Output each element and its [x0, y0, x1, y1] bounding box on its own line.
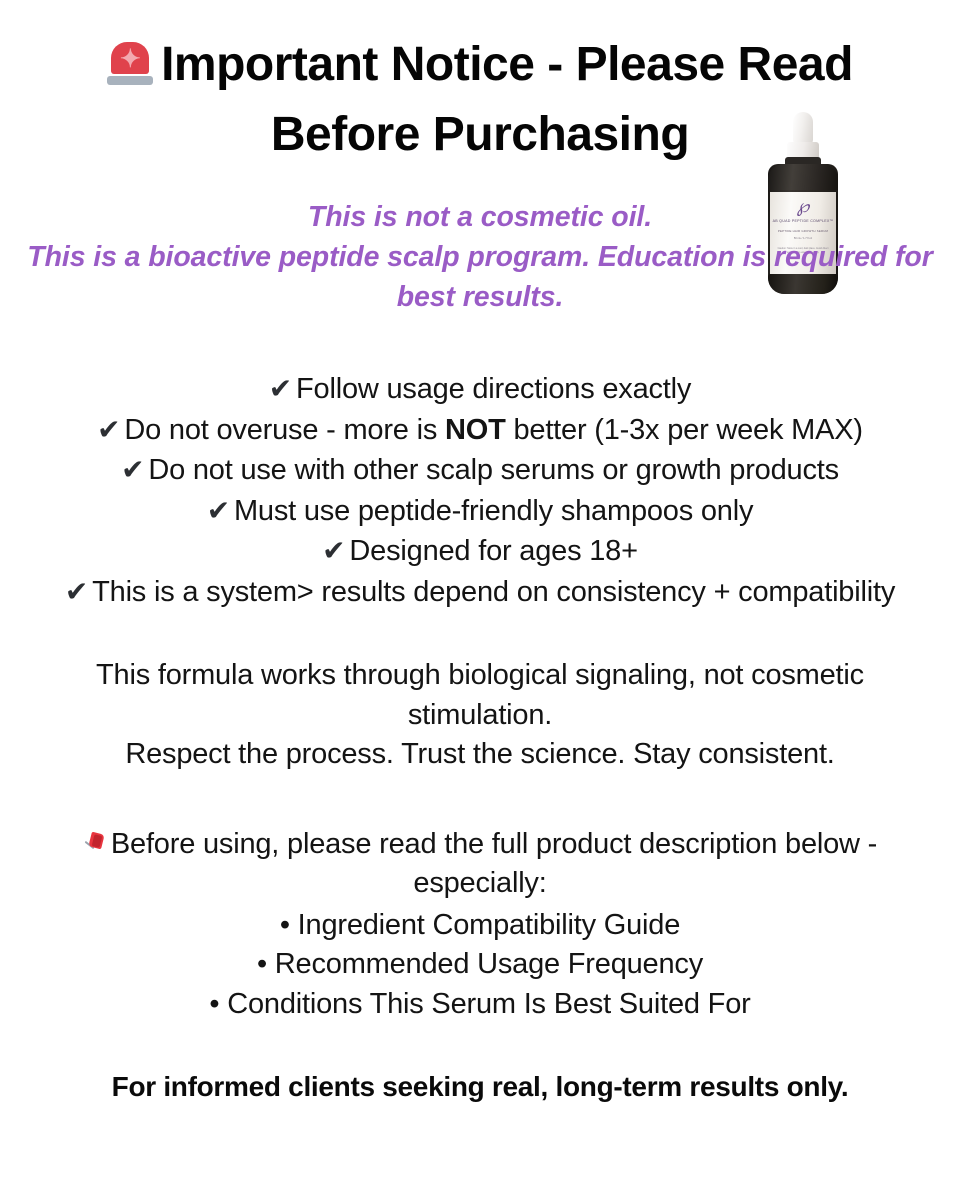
check-icon: ✔: [322, 535, 345, 566]
checklist-item: ✔Must use peptide-friendly shampoos only: [0, 491, 960, 532]
checklist-item: ✔This is a system> results depend on con…: [0, 572, 960, 613]
footer-statement: For informed clients seeking real, long-…: [0, 1068, 960, 1106]
read-description-line: Before using, please read the full produ…: [30, 825, 930, 904]
notice-page: ℘ AB QUAD PEPTIDE COMPLEX™ PEPTIDE HAIR …: [0, 0, 960, 1200]
check-icon: ✔: [97, 414, 120, 445]
intro-line-2: This is a bioactive peptide scalp progra…: [8, 237, 952, 317]
description-bullets: • Ingredient Compatibility Guide • Recom…: [30, 906, 930, 1025]
read-description-block: Before using, please read the full produ…: [0, 825, 960, 1025]
footer-block: For informed clients seeking real, long-…: [0, 1068, 960, 1106]
siren-star: ✦: [118, 47, 142, 71]
checklist-item-label: Must use peptide-friendly shampoos only: [234, 495, 753, 527]
requirements-checklist: ✔Follow usage directions exactly ✔Do not…: [0, 369, 960, 612]
pushpin-icon: [83, 832, 107, 858]
checklist-item: ✔Follow usage directions exactly: [0, 369, 960, 410]
mechanism-line-2: Respect the process. Trust the science. …: [30, 735, 930, 775]
rotating-light-icon: ✦: [107, 42, 153, 86]
checklist-item: ✔Designed for ages 18+: [0, 531, 960, 572]
check-icon: ✔: [207, 495, 230, 526]
intro-line-1: This is not a cosmetic oil.: [8, 197, 952, 237]
read-description-text: Before using, please read the full produ…: [111, 828, 877, 900]
check-icon: ✔: [121, 454, 144, 485]
bullet-item: • Ingredient Compatibility Guide: [30, 906, 930, 946]
checklist-item-label: This is a system> results depend on cons…: [92, 576, 895, 608]
mechanism-line-1: This formula works through biological si…: [30, 656, 930, 735]
page-title: ✦Important Notice - Please Read Before P…: [28, 30, 932, 169]
checklist-item-label: Designed for ages 18+: [349, 535, 637, 567]
page-title-block: ✦Important Notice - Please Read Before P…: [0, 0, 960, 169]
bullet-item: • Conditions This Serum Is Best Suited F…: [30, 985, 930, 1025]
checklist-item-label: Follow usage directions exactly: [296, 373, 691, 405]
checklist-item-label-pre: Do not overuse - more is: [124, 414, 445, 446]
siren-base: [107, 76, 153, 85]
intro-statement: This is not a cosmetic oil. This is a bi…: [0, 197, 960, 317]
page-title-text: Important Notice - Please Read Before Pu…: [161, 38, 853, 161]
check-icon: ✔: [269, 373, 292, 404]
bullet-item: • Recommended Usage Frequency: [30, 945, 930, 985]
checklist-item: ✔Do not overuse - more is NOT better (1-…: [0, 410, 960, 451]
checklist-item: ✔Do not use with other scalp serums or g…: [0, 450, 960, 491]
checklist-item-label: Do not use with other scalp serums or gr…: [148, 454, 839, 486]
checklist-item-label-emphasis: NOT: [445, 414, 506, 446]
mechanism-paragraph: This formula works through biological si…: [0, 656, 960, 775]
checklist-item-label-post: better (1-3x per week MAX): [506, 414, 863, 446]
check-icon: ✔: [65, 576, 88, 607]
